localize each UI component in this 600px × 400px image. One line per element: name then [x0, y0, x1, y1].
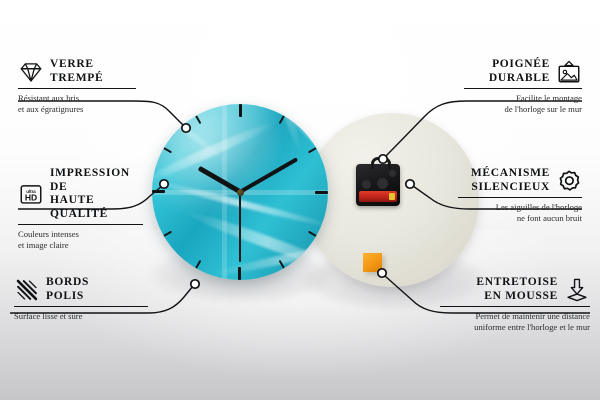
callout-title: POIGNÉE DURABLE — [489, 58, 550, 85]
callout-header: ultra HD IMPRESSION DE HAUTE QUALITÉ — [18, 167, 143, 221]
mechanism-hanger-loop — [371, 157, 391, 169]
callout-mecanisme-silencieux: MÉCANISME SILENCIEUX Les aiguilles de l'… — [458, 167, 582, 223]
callout-divider — [440, 306, 590, 307]
callout-divider — [464, 88, 582, 89]
callout-title: BORDS POLIS — [46, 276, 89, 303]
polished-edges-icon — [14, 277, 40, 303]
diamond-icon — [18, 59, 44, 85]
callout-description: Couleurs intenses et image claire — [18, 229, 143, 250]
callout-poignee-durable: POIGNÉE DURABLE Facilite le montage de l… — [464, 58, 582, 114]
infographic-canvas: VERRE TREMPÉ Résistant aux bris et aux é… — [0, 0, 600, 400]
svg-text:HD: HD — [25, 193, 37, 203]
callout-description: Les aiguilles de l'horloge ne font aucun… — [458, 202, 582, 223]
callout-divider — [14, 306, 148, 307]
clock-tick — [152, 191, 240, 193]
callout-divider — [18, 88, 136, 89]
callout-description: Résistant aux bris et aux égratignures — [18, 93, 136, 114]
callout-divider — [18, 224, 143, 225]
callout-header: POIGNÉE DURABLE — [464, 58, 582, 85]
ultra-hd-icon: ultra HD — [18, 181, 44, 207]
mechanism-dial-center — [377, 178, 388, 189]
front-clock — [152, 104, 328, 280]
foam-spacer — [363, 253, 382, 272]
clock-mechanism — [356, 164, 400, 206]
callout-description: Permet de maintenir une distance uniform… — [440, 311, 590, 332]
mechanism-dial-left — [362, 180, 371, 189]
callout-divider — [458, 197, 582, 198]
callout-entretoise-en-mousse: ENTRETOISE EN MOUSSE Permet de maintenir… — [440, 276, 590, 332]
picture-frame-icon — [556, 59, 582, 85]
callout-title: ENTRETOISE EN MOUSSE — [476, 276, 558, 303]
second-hand — [239, 192, 241, 262]
battery — [359, 191, 397, 202]
callout-title: VERRE TREMPÉ — [50, 58, 103, 85]
callout-title: IMPRESSION DE HAUTE QUALITÉ — [50, 167, 143, 221]
clock-hub — [237, 189, 244, 196]
callout-header: MÉCANISME SILENCIEUX — [458, 167, 582, 194]
callout-title: MÉCANISME SILENCIEUX — [471, 167, 550, 194]
callout-description: Facilite le montage de l'horloge sur le … — [464, 93, 582, 114]
callout-impression-haute-qualite: ultra HD IMPRESSION DE HAUTE QUALITÉ Cou… — [18, 167, 143, 250]
clock-tick — [239, 104, 241, 192]
callout-header: VERRE TREMPÉ — [18, 58, 136, 85]
callout-header: ENTRETOISE EN MOUSSE — [440, 276, 590, 303]
back-clock — [305, 113, 479, 287]
callout-verre-trempe: VERRE TREMPÉ Résistant aux bris et aux é… — [18, 58, 136, 114]
callout-header: BORDS POLIS — [14, 276, 148, 303]
mechanism-dial-right — [389, 170, 396, 177]
gear-icon — [556, 168, 582, 194]
foam-spacer-icon — [564, 277, 590, 303]
callout-bords-polis: BORDS POLIS Surface lisse et sûre — [14, 276, 148, 322]
clock-tick — [240, 191, 328, 193]
callout-description: Surface lisse et sûre — [14, 311, 148, 322]
